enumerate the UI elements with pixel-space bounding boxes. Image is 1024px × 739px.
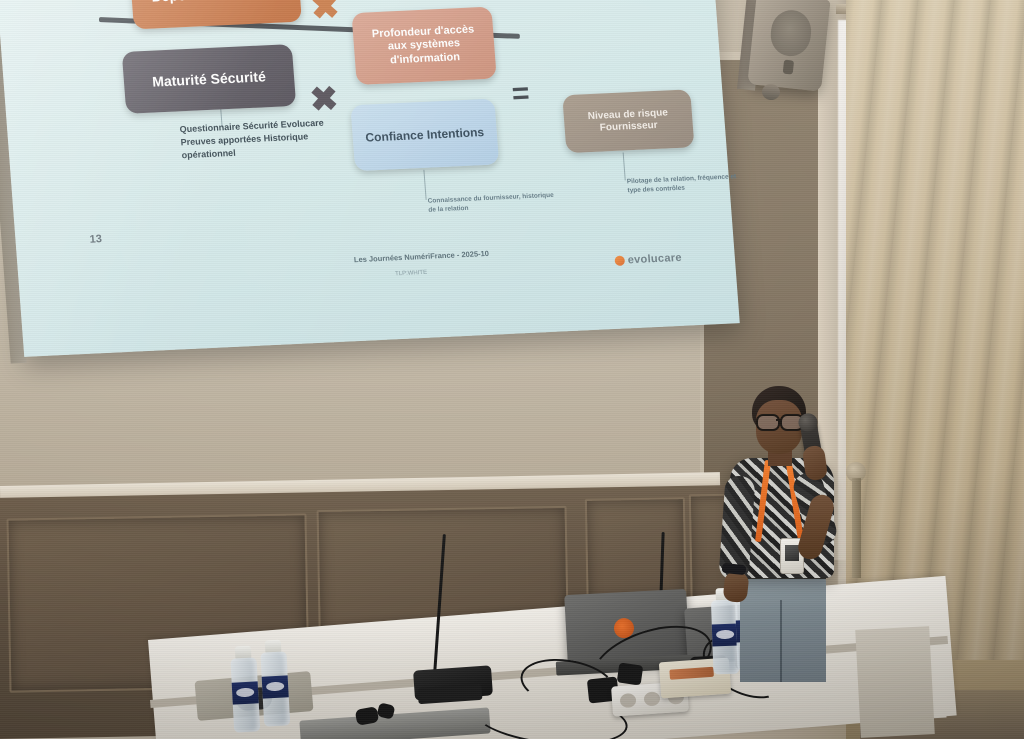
- slide-note-confiance: Connaissance du fournisseur, historique …: [427, 192, 558, 216]
- diagram-box-profondeur-acces: Profondeur d'accès aux systèmes d'inform…: [351, 7, 496, 85]
- water-bottle: [230, 645, 260, 732]
- slide-footer: Les Journées NumériFrance - 2025-10: [354, 249, 490, 264]
- speaker-driver-icon: [769, 8, 814, 58]
- equals-icon: =: [511, 79, 531, 110]
- callout-tick: [423, 170, 426, 200]
- table-apron: [855, 626, 935, 738]
- evolucare-circle-icon: [614, 256, 625, 266]
- diagram-box-confiance-intentions: Confiance Intentions: [350, 99, 499, 172]
- water-bottle: [260, 639, 290, 726]
- trouser-seam: [780, 600, 782, 682]
- wall-mounted-pa-speaker: [747, 0, 830, 92]
- diagram-box-maturite-securite: Maturité Sécurité: [122, 44, 297, 114]
- multiply-icon: ✖: [309, 82, 340, 117]
- projection-screen: niveau de sécurité de ses fournisseurs D…: [0, 0, 745, 373]
- bottle-label: [232, 681, 259, 704]
- speaker-presenter: [712, 386, 850, 666]
- evolucare-logo-text: evolucare: [627, 252, 682, 267]
- speaker-tweeter-icon: [783, 60, 794, 75]
- slide-footer-sub: TLP:WHITE: [395, 270, 427, 277]
- power-adapter: [617, 662, 644, 685]
- slide-note-risque: Pilotage de la relation, fréquence et ty…: [627, 173, 738, 196]
- wall-post: [852, 478, 861, 578]
- diagram-box-niveau-risque: Niveau de risque Fournisseur: [562, 89, 694, 153]
- evolucare-logo: evolucare: [614, 252, 682, 267]
- eyeglasses-bridge: [776, 419, 782, 421]
- multiply-icon: ✖: [310, 0, 341, 25]
- person-trousers: [740, 572, 826, 682]
- conference-photo-scene: niveau de sécurité de ses fournisseurs D…: [0, 0, 1024, 739]
- bottle-label: [262, 675, 289, 698]
- screen-surface: niveau de sécurité de ses fournisseurs D…: [0, 0, 740, 357]
- projected-slide: niveau de sécurité de ses fournisseurs D…: [0, 0, 740, 357]
- slide-note-maturite: Questionnaire Sécurité Evolucare Preuves…: [179, 115, 352, 162]
- microphone-head-icon: [797, 412, 819, 433]
- person-left-hand: [722, 571, 749, 603]
- callout-tick: [623, 152, 626, 180]
- slide-page-number: 13: [89, 233, 102, 246]
